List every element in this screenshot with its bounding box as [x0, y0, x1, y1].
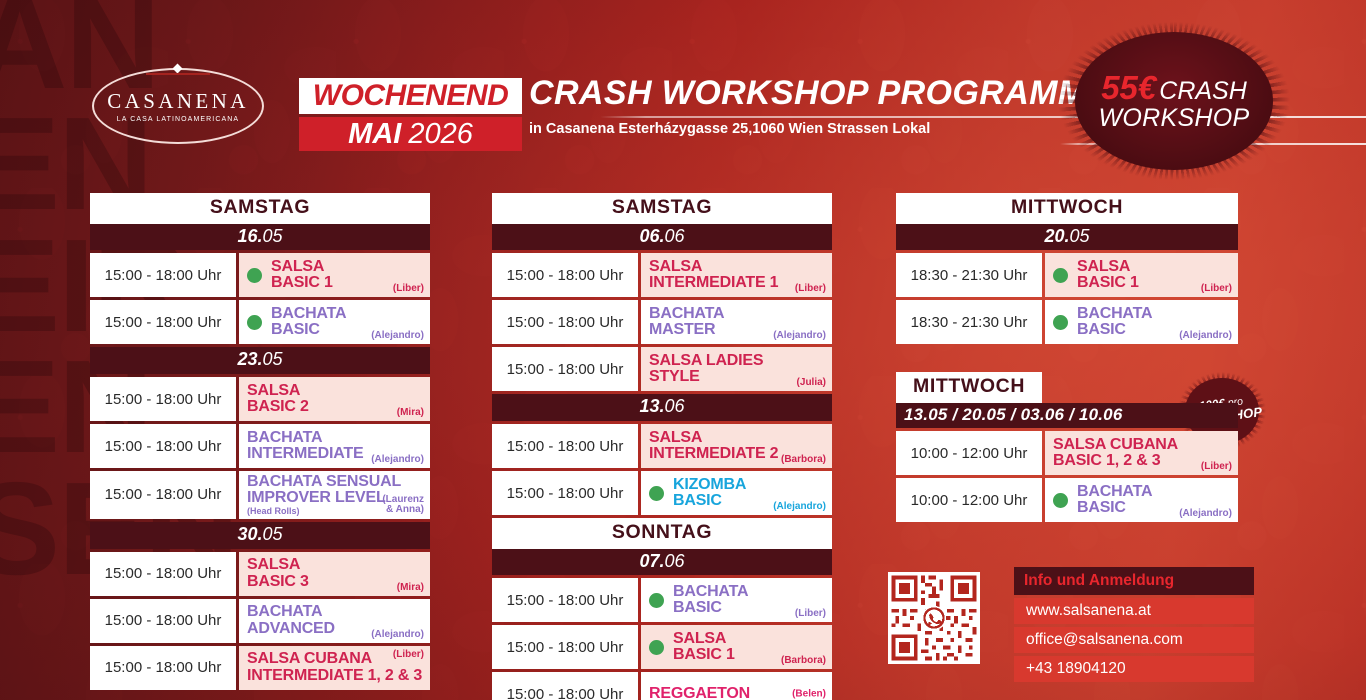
schedule-row: 15:00 - 18:00 UhrBACHATAINTERMEDIATE(Ale…: [90, 424, 430, 468]
course-name: SALSABASIC 3: [247, 557, 309, 590]
course-name: SALSABASIC 1: [1077, 259, 1139, 292]
poster-canvas: AN EN EIR EN SEN CASANENA LA CASA LATINO…: [0, 0, 1366, 700]
course-teacher: (Laurenz& Anna): [382, 495, 424, 516]
schedule-column-4: MITTWOCH20.0518:30 - 21:30 UhrSALSABASIC…: [896, 193, 1238, 344]
schedule-row: 15:00 - 18:00 UhrSALSABASIC 1(Barbora): [492, 625, 832, 669]
schedule-row: 15:00 - 18:00 UhrBACHATA SENSUALIMPROVER…: [90, 471, 430, 519]
course-cell: SALSABASIC 3(Mira): [239, 552, 430, 596]
info-email[interactable]: office@salsanena.com: [1014, 627, 1254, 653]
schedule-block: SAMSTAG16.0515:00 - 18:00 UhrSALSABASIC …: [90, 193, 430, 344]
date-day: 06.: [639, 226, 664, 246]
schedule-block: MITTWOCH13.05 / 20.05 / 03.06 / 10.0610:…: [896, 372, 1238, 522]
row-time: 10:00 - 12:00 Uhr: [896, 431, 1042, 475]
date-month: 06: [665, 226, 685, 246]
schedule-block: MITTWOCH20.0518:30 - 21:30 UhrSALSABASIC…: [896, 193, 1238, 344]
header-kicker-wochenend: WOCHENEND: [299, 78, 522, 114]
course-name: BACHATAMASTER: [649, 306, 724, 339]
row-time: 15:00 - 18:00 Uhr: [90, 471, 236, 519]
schedule-block: SONNTAG07.0615:00 - 18:00 UhrBACHATABASI…: [492, 518, 832, 700]
row-time: 15:00 - 18:00 Uhr: [90, 253, 236, 297]
date-bar: 13.05 / 20.05 / 03.06 / 10.06: [896, 403, 1238, 429]
date-day: 13.: [639, 396, 664, 416]
date-bar: 06.06: [492, 224, 832, 251]
row-time: 15:00 - 18:00 Uhr: [492, 347, 638, 391]
day-header: SAMSTAG: [492, 193, 832, 224]
date-bar: 20.05: [896, 224, 1238, 251]
schedule-block: 23.0515:00 - 18:00 UhrSALSABASIC 2(Mira)…: [90, 347, 430, 519]
course-name: BACHATABASIC: [1077, 306, 1152, 339]
course-teacher: (Liber): [1201, 283, 1232, 294]
row-time: 15:00 - 18:00 Uhr: [90, 300, 236, 344]
logo-tagline: LA CASA LATINOAMERICANA: [94, 116, 262, 123]
casanena-logo: CASANENA LA CASA LATINOAMERICANA: [92, 68, 264, 144]
page-subtitle: in Casanena Esterházygasse 25,1060 Wien …: [529, 121, 930, 137]
page-title: CRASH WORKSHOP PROGRAMM: [529, 74, 1087, 113]
course-name: SALSA CUBANABASIC 1, 2 & 3: [1053, 437, 1178, 470]
row-time: 15:00 - 18:00 Uhr: [492, 300, 638, 344]
row-time: 15:00 - 18:00 Uhr: [492, 672, 638, 700]
green-dot-icon: [1053, 268, 1068, 283]
course-teacher: (Barbora): [781, 655, 826, 666]
green-dot-icon: [247, 268, 262, 283]
date-bar: 13.06: [492, 394, 832, 421]
course-cell: SALSAINTERMEDIATE 2(Barbora): [641, 424, 832, 468]
course-cell: BACHATABASIC(Alejandro): [1045, 478, 1238, 522]
row-time: 15:00 - 18:00 Uhr: [492, 253, 638, 297]
schedule-row: 15:00 - 18:00 UhrSALSAINTERMEDIATE 2(Bar…: [492, 424, 832, 468]
schedule-row: 10:00 - 12:00 UhrBACHATABASIC(Alejandro): [896, 478, 1238, 522]
row-time: 15:00 - 18:00 Uhr: [90, 424, 236, 468]
qr-icon: [888, 572, 980, 664]
course-cell: SALSABASIC 2(Mira): [239, 377, 430, 421]
date-bar: 07.06: [492, 549, 832, 576]
course-teacher: (Julia): [797, 377, 826, 388]
price-word-1: CRASH: [1159, 77, 1247, 105]
schedule-column-1: SAMSTAG16.0515:00 - 18:00 UhrSALSABASIC …: [90, 193, 430, 690]
course-cell: BACHATABASIC(Alejandro): [239, 300, 430, 344]
course-teacher: (Liber): [795, 283, 826, 294]
course-name: BACHATAINTERMEDIATE: [247, 430, 363, 463]
schedule-row: 18:30 - 21:30 UhrSALSABASIC 1(Liber): [896, 253, 1238, 297]
date-month: 06: [665, 396, 685, 416]
course-name: SALSABASIC 1: [673, 631, 735, 664]
day-header: SONNTAG: [492, 518, 832, 549]
green-dot-icon: [1053, 315, 1068, 330]
schedule-row: 15:00 - 18:00 UhrKIZOMBABASIC(Alejandro): [492, 471, 832, 515]
schedule-row: 15:00 - 18:00 UhrREGGAETON(Belen): [492, 672, 832, 700]
day-header: MITTWOCH: [896, 372, 1042, 403]
course-cell: SALSAINTERMEDIATE 1(Liber): [641, 253, 832, 297]
row-time: 10:00 - 12:00 Uhr: [896, 478, 1042, 522]
course-teacher: (Mira): [397, 407, 424, 418]
course-cell: KIZOMBABASIC(Alejandro): [641, 471, 832, 515]
course-name: SALSA LADIESSTYLE: [649, 353, 763, 386]
day-header: MITTWOCH: [896, 193, 1238, 224]
date-day: 07.: [639, 551, 664, 571]
row-time: 15:00 - 18:00 Uhr: [492, 578, 638, 622]
course-teacher: (Alejandro): [371, 454, 424, 465]
date-bar: 16.05: [90, 224, 430, 251]
course-teacher: (Alejandro): [371, 330, 424, 341]
date-month: 05: [1070, 226, 1090, 246]
header-kicker-date: MAI 2026: [299, 117, 522, 151]
schedule-column-3: SONNTAG07.0615:00 - 18:00 UhrBACHATABASI…: [492, 518, 832, 700]
course-teacher: (Belen): [792, 689, 826, 700]
date-day: 30.: [237, 524, 262, 544]
schedule-row: 18:30 - 21:30 UhrBACHATABASIC(Alejandro): [896, 300, 1238, 344]
course-name: REGGAETON: [649, 686, 750, 700]
date-bar: 30.05: [90, 522, 430, 549]
course-teacher: (Alejandro): [371, 629, 424, 640]
date-month: 05: [263, 226, 283, 246]
schedule-row: 15:00 - 18:00 UhrBACHATAADVANCED(Alejand…: [90, 599, 430, 643]
date-month: 05: [263, 349, 283, 369]
kicker-year: 2026: [408, 118, 473, 151]
course-name: BACHATABASIC: [1077, 484, 1152, 517]
price-amount: 55€: [1101, 69, 1156, 106]
course-name: BACHATAADVANCED: [247, 604, 335, 637]
whatsapp-qr-code[interactable]: [888, 572, 980, 664]
course-teacher: (Barbora): [781, 454, 826, 465]
course-cell: SALSA CUBANAINTERMEDIATE 1, 2 & 3(Liber): [239, 646, 430, 690]
course-teacher: (Alejandro): [773, 330, 826, 341]
info-box: Info und Anmeldung www.salsanena.at offi…: [1014, 567, 1254, 682]
green-dot-icon: [649, 640, 664, 655]
date-month: 06: [665, 551, 685, 571]
course-cell: BACHATABASIC(Alejandro): [1045, 300, 1238, 344]
course-cell: BACHATABASIC(Liber): [641, 578, 832, 622]
logo-name: CASANENA: [94, 89, 262, 114]
row-time: 15:00 - 18:00 Uhr: [90, 377, 236, 421]
price-word-2: WORKSHOP: [1098, 105, 1249, 131]
row-time: 18:30 - 21:30 Uhr: [896, 300, 1042, 344]
schedule-row: 15:00 - 18:00 UhrSALSABASIC 2(Mira): [90, 377, 430, 421]
green-dot-icon: [649, 593, 664, 608]
schedule-row: 15:00 - 18:00 UhrSALSA LADIESSTYLE(Julia…: [492, 347, 832, 391]
course-name: BACHATABASIC: [673, 584, 748, 617]
course-name: SALSAINTERMEDIATE 2: [649, 430, 778, 463]
price-badge: 55€CRASH WORKSHOP: [1058, 22, 1290, 180]
date-month: 05: [263, 524, 283, 544]
date-day: 16.: [237, 226, 262, 246]
date-day: 20.: [1044, 226, 1069, 246]
row-time: 15:00 - 18:00 Uhr: [90, 646, 236, 690]
course-note: (Head Rolls): [247, 507, 401, 516]
schedule-row: 15:00 - 18:00 UhrBACHATAMASTER(Alejandro…: [492, 300, 832, 344]
schedule-row: 10:00 - 12:00 UhrSALSA CUBANABASIC 1, 2 …: [896, 431, 1238, 475]
row-time: 15:00 - 18:00 Uhr: [90, 599, 236, 643]
course-teacher: (Liber): [1201, 461, 1232, 472]
green-dot-icon: [649, 486, 664, 501]
course-cell: SALSABASIC 1(Liber): [239, 253, 430, 297]
course-name: SALSAINTERMEDIATE 1: [649, 259, 778, 292]
row-time: 18:30 - 21:30 Uhr: [896, 253, 1042, 297]
course-name: KIZOMBABASIC: [673, 477, 746, 510]
row-time: 15:00 - 18:00 Uhr: [90, 552, 236, 596]
course-cell: BACHATA SENSUALIMPROVER LEVEL(Head Rolls…: [239, 471, 430, 519]
schedule-row: 15:00 - 18:00 UhrBACHATABASIC(Liber): [492, 578, 832, 622]
green-dot-icon: [1053, 493, 1068, 508]
green-dot-icon: [247, 315, 262, 330]
course-cell: REGGAETON(Belen): [641, 672, 832, 700]
course-teacher: (Liber): [393, 283, 424, 294]
course-teacher: (Alejandro): [1179, 508, 1232, 519]
course-cell: SALSABASIC 1(Liber): [1045, 253, 1238, 297]
row-time: 15:00 - 18:00 Uhr: [492, 471, 638, 515]
schedule-row: 15:00 - 18:00 UhrBACHATABASIC(Alejandro): [90, 300, 430, 344]
date-bar: 23.05: [90, 347, 430, 374]
info-phone[interactable]: +43 18904120: [1014, 656, 1254, 682]
course-cell: BACHATAMASTER(Alejandro): [641, 300, 832, 344]
info-website[interactable]: www.salsanena.at: [1014, 598, 1254, 624]
schedule-block: SAMSTAG06.0615:00 - 18:00 UhrSALSAINTERM…: [492, 193, 832, 391]
info-title: Info und Anmeldung: [1014, 567, 1254, 595]
date-day: 23.: [237, 349, 262, 369]
course-cell: SALSABASIC 1(Barbora): [641, 625, 832, 669]
course-cell: BACHATAADVANCED(Alejandro): [239, 599, 430, 643]
schedule-row: 15:00 - 18:00 UhrSALSA CUBANAINTERMEDIAT…: [90, 646, 430, 690]
kicker-wochenend-text: WOCHENEND: [313, 79, 509, 113]
course-teacher: (Liber): [393, 649, 424, 660]
course-cell: SALSA CUBANABASIC 1, 2 & 3(Liber): [1045, 431, 1238, 475]
schedule-row: 15:00 - 18:00 UhrSALSAINTERMEDIATE 1(Lib…: [492, 253, 832, 297]
course-teacher: (Mira): [397, 582, 424, 593]
course-name: SALSABASIC 1: [271, 259, 333, 292]
row-time: 15:00 - 18:00 Uhr: [492, 424, 638, 468]
kicker-month: MAI: [348, 118, 401, 151]
course-cell: BACHATAINTERMEDIATE(Alejandro): [239, 424, 430, 468]
day-header: SAMSTAG: [90, 193, 430, 224]
course-teacher: (Alejandro): [1179, 330, 1232, 341]
schedule-row: 15:00 - 18:00 UhrSALSABASIC 1(Liber): [90, 253, 430, 297]
schedule-block: 30.0515:00 - 18:00 UhrSALSABASIC 3(Mira)…: [90, 522, 430, 690]
row-time: 15:00 - 18:00 Uhr: [492, 625, 638, 669]
schedule-column-2: SAMSTAG06.0615:00 - 18:00 UhrSALSAINTERM…: [492, 193, 832, 562]
course-name: BACHATA SENSUALIMPROVER LEVEL(Head Rolls…: [247, 474, 401, 516]
course-cell: SALSA LADIESSTYLE(Julia): [641, 347, 832, 391]
course-name: BACHATABASIC: [271, 306, 346, 339]
schedule-row: 15:00 - 18:00 UhrSALSABASIC 3(Mira): [90, 552, 430, 596]
course-teacher: (Alejandro): [773, 501, 826, 512]
course-teacher: (Liber): [795, 608, 826, 619]
schedule-column-5: MITTWOCH13.05 / 20.05 / 03.06 / 10.0610:…: [896, 372, 1238, 522]
course-name: SALSABASIC 2: [247, 383, 309, 416]
